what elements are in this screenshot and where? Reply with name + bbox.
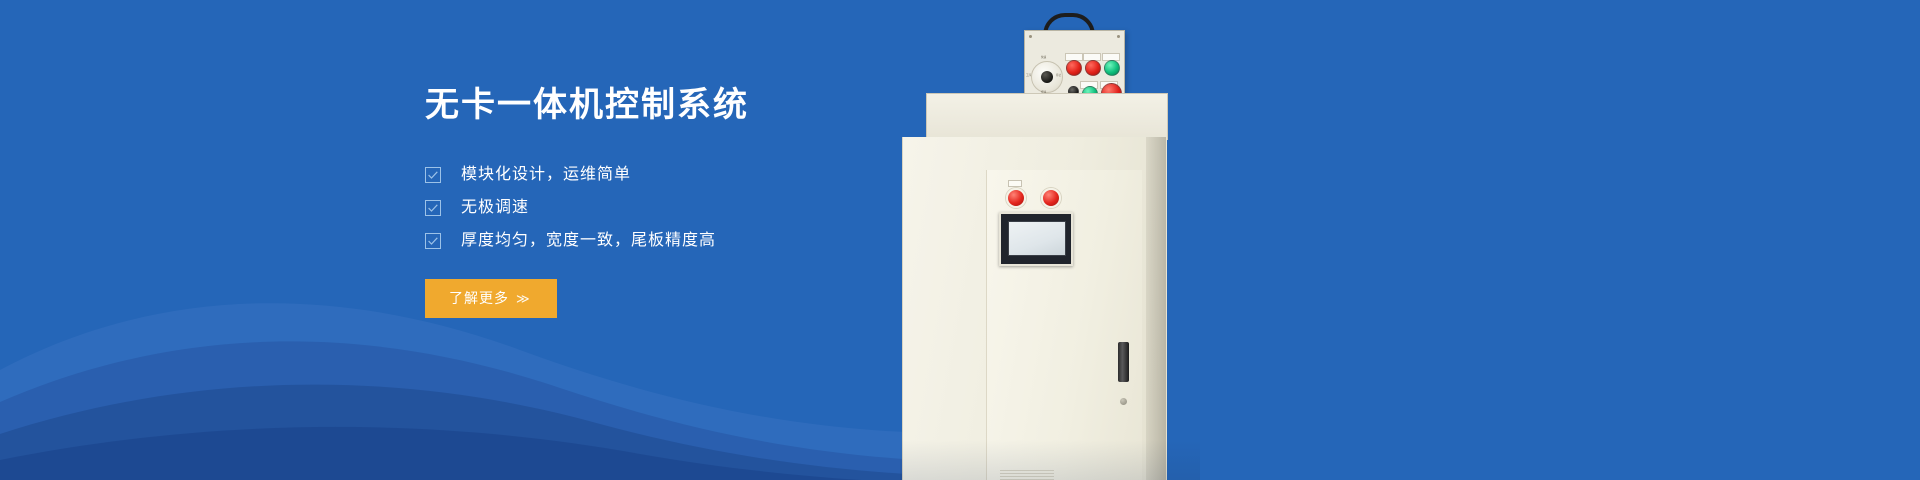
checkbox-checked-icon	[425, 233, 441, 249]
cabinet-side-shadow	[1146, 137, 1166, 480]
indicator-lamp-red-2[interactable]	[1041, 188, 1061, 208]
feature-text: 厚度均匀，宽度一致，尾板精度高	[461, 231, 716, 251]
hmi-screen-surface[interactable]	[1008, 221, 1066, 256]
push-button-red-2[interactable]	[1085, 60, 1101, 76]
knob-label-left: 工序	[1026, 74, 1031, 77]
push-button-red-1[interactable]	[1066, 60, 1082, 76]
push-button-green-1[interactable]	[1104, 60, 1120, 76]
operator-control-box: 快速 工序 停止 慢速	[1024, 30, 1125, 101]
knob-label-top: 快速	[1041, 56, 1046, 59]
knob-pointer	[1041, 71, 1053, 83]
feature-text: 无极调速	[461, 198, 529, 218]
cabinet-door-lock[interactable]	[1120, 398, 1127, 405]
hero-banner: 无卡一体机控制系统 模块化设计，运维简单 无极	[0, 0, 1920, 480]
hmi-touchscreen[interactable]	[999, 212, 1073, 266]
cabinet-top-cap	[926, 93, 1168, 140]
chevron-right-icon: ≫	[516, 291, 531, 306]
knob-label-right: 停止	[1056, 74, 1061, 77]
rotary-selector-knob[interactable]	[1031, 61, 1063, 93]
checkbox-checked-icon	[425, 200, 441, 216]
cabinet-door-handle[interactable]	[1118, 342, 1129, 382]
machine-photo: 快速 工序 停止 慢速	[900, 0, 1920, 480]
learn-more-label: 了解更多	[449, 290, 509, 306]
indicator-lamp-red-1[interactable]	[1006, 188, 1026, 208]
feature-text: 模块化设计，运维简单	[461, 165, 631, 185]
panel-screw	[1029, 35, 1032, 38]
floor-shadow	[900, 440, 1200, 480]
learn-more-button[interactable]: 了解更多≫	[425, 279, 557, 318]
panel-screw	[1117, 35, 1120, 38]
lamp-label-plate	[1008, 180, 1022, 187]
checkbox-checked-icon	[425, 167, 441, 183]
